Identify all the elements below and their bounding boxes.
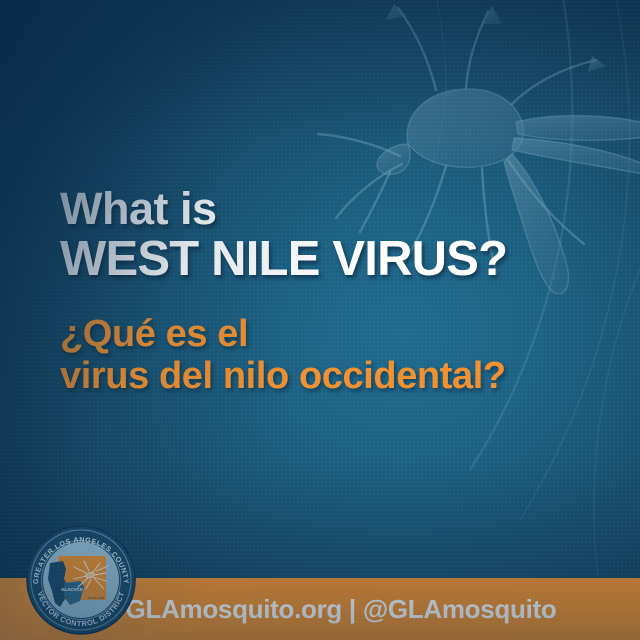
halftone-texture	[0, 0, 640, 640]
poster-canvas: What is WEST NILE VIRUS? ¿Qué es el viru…	[0, 0, 640, 640]
